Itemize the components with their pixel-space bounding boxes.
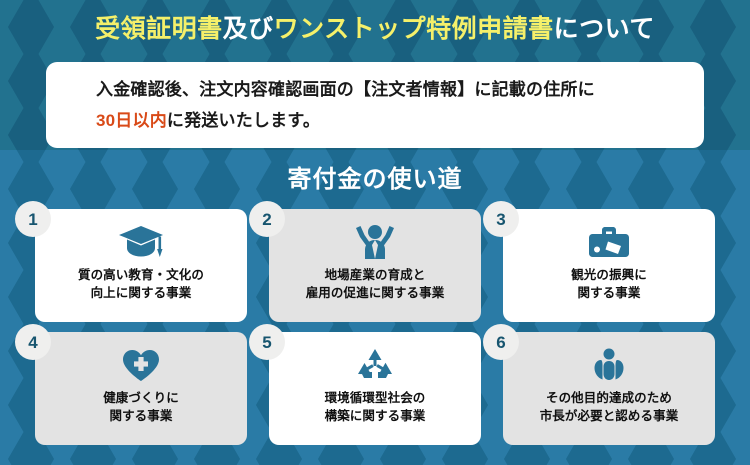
usage-card-grid: 1 質の高い教育・文化の 向上に関する事業 2	[35, 209, 715, 445]
card-label-1: 質の高い教育・文化の 向上に関する事業	[78, 266, 204, 302]
section-heading: 寄付金の使い道	[0, 163, 750, 197]
person-open-hands-icon	[589, 346, 629, 384]
notice-accent-period: 30日以内	[96, 111, 167, 130]
person-raising-arms-icon	[353, 223, 397, 261]
infographic-page: 受領証明書及びワンストップ特例申請書について 入金確認後、注文内容確認画面の【注…	[0, 0, 750, 465]
title-segment-white-2: について	[554, 15, 655, 43]
card-badge-4: 4	[15, 324, 51, 360]
card-badge-2: 2	[249, 201, 285, 237]
card-label-3: 観光の振興に 関する事業	[571, 266, 647, 302]
card-label-4: 健康づくりに 関する事業	[103, 389, 179, 425]
card-label-6-line2: 市長が必要と認める事業	[540, 407, 679, 425]
notice-line-2: 30日以内に発送いたします。	[96, 105, 704, 136]
title-segment-white-1: 及び	[223, 15, 274, 43]
usage-card-2[interactable]: 2 地場産業の育成と 雇用の促進に関する事業	[269, 209, 481, 322]
usage-card-3[interactable]: 3 観光の振興に 関する事業	[503, 209, 715, 322]
card-label-3-line2: 関する事業	[571, 284, 647, 302]
suitcase-icon	[586, 223, 632, 261]
recycle-icon	[355, 346, 395, 384]
notice-box: 入金確認後、注文内容確認画面の【注文者情報】に記載の住所に 30日以内に発送いた…	[46, 62, 704, 148]
card-label-6: その他目的達成のため 市長が必要と認める事業	[540, 389, 679, 425]
graduation-cap-icon	[118, 223, 164, 261]
page-title: 受領証明書及びワンストップ特例申請書について	[0, 10, 750, 48]
usage-card-6[interactable]: 6 その他目的達成のため 市長が必要と認める事業	[503, 332, 715, 445]
usage-card-4[interactable]: 4 健康づくりに 関する事業	[35, 332, 247, 445]
card-label-2-line1: 地場産業の育成と	[306, 266, 445, 284]
title-segment-highlight-2: ワンストップ特例申請書	[274, 15, 554, 43]
card-label-5: 環境循環型社会の 構築に関する事業	[325, 389, 426, 425]
title-segment-highlight-1: 受領証明書	[95, 15, 223, 43]
card-badge-5: 5	[249, 324, 285, 360]
card-label-4-line1: 健康づくりに	[103, 389, 179, 407]
card-label-3-line1: 観光の振興に	[571, 266, 647, 284]
card-badge-6: 6	[483, 324, 519, 360]
card-badge-3: 3	[483, 201, 519, 237]
heart-plus-icon	[120, 346, 162, 384]
card-badge-1: 1	[15, 201, 51, 237]
card-label-5-line2: 構築に関する事業	[325, 407, 426, 425]
card-label-4-line2: 関する事業	[103, 407, 179, 425]
card-label-6-line1: その他目的達成のため	[540, 389, 679, 407]
card-label-1-line2: 向上に関する事業	[78, 284, 204, 302]
notice-line-1: 入金確認後、注文内容確認画面の【注文者情報】に記載の住所に	[96, 74, 704, 105]
card-label-1-line1: 質の高い教育・文化の	[78, 266, 204, 284]
usage-card-5[interactable]: 5 環境循環型社会の 構築に関する事業	[269, 332, 481, 445]
usage-card-1[interactable]: 1 質の高い教育・文化の 向上に関する事業	[35, 209, 247, 322]
notice-line-2-rest: に発送いたします。	[167, 111, 320, 130]
card-label-2: 地場産業の育成と 雇用の促進に関する事業	[306, 266, 445, 302]
card-label-5-line1: 環境循環型社会の	[325, 389, 426, 407]
card-label-2-line2: 雇用の促進に関する事業	[306, 284, 445, 302]
